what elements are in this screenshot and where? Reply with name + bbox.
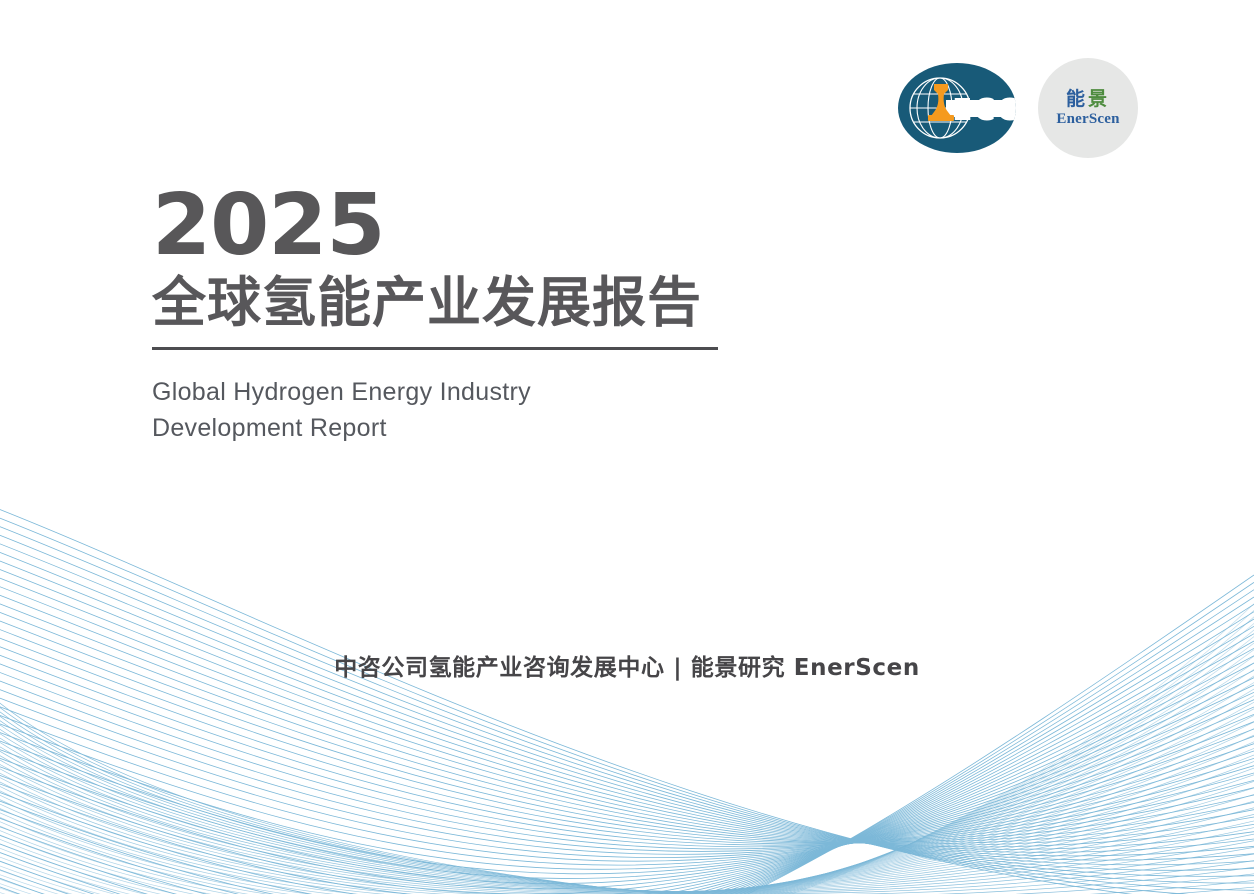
decor-curve [0, 718, 1254, 894]
decor-curve [0, 692, 1254, 883]
decor-curve [0, 654, 1254, 844]
decor-curve [0, 722, 1254, 865]
decor-curve [0, 670, 1254, 894]
decor-curve [0, 600, 1254, 894]
decor-curve [0, 653, 1254, 894]
decor-curve [0, 700, 1254, 894]
decor-curve [0, 662, 1254, 845]
decor-curve [0, 720, 1254, 894]
decor-curve [0, 753, 1254, 891]
decor-curve [0, 736, 1254, 893]
decor-curve [0, 709, 1254, 894]
enerscen-cjk-first: 能 [1066, 88, 1088, 110]
decor-curve [0, 767, 1254, 894]
decor-curve [0, 611, 1254, 845]
decor-curve [0, 753, 1254, 894]
decor-curve [0, 740, 1254, 892]
credit-line: 中咨公司氢能产业咨询发展中心 | 能景研究 EnerScen [0, 648, 1254, 682]
decor-curve [0, 678, 1254, 894]
decor-curve [0, 758, 1254, 892]
report-year: 2025 [152, 186, 718, 267]
decor-curve [0, 575, 1254, 894]
logo-row: ECC 能景 EnerScen [898, 58, 1138, 158]
decor-curve [0, 762, 1254, 892]
decor-curve [0, 585, 1254, 852]
decor-curve [0, 680, 1254, 894]
decor-curve [0, 648, 1254, 894]
decor-curve [0, 700, 1254, 894]
subtitle-line-1: Global Hydrogen Energy Industry [152, 378, 531, 406]
decor-curve [0, 697, 1254, 855]
enerscen-latin: EnerScen [1056, 112, 1119, 127]
decor-curve [0, 656, 1254, 894]
credit-text: 中咨公司氢能产业咨询发展中心 | 能景研究 EnerScen [334, 648, 920, 682]
page-subtitle-english: Global Hydrogen Energy Industry Developm… [152, 374, 622, 447]
decor-curve [0, 693, 1254, 894]
decor-curve [0, 590, 1254, 894]
decor-curve [0, 508, 1254, 894]
decor-curve [0, 727, 1254, 894]
decor-curve [0, 705, 1254, 857]
decor-curve [0, 767, 1254, 893]
decor-curve [0, 713, 1254, 894]
decor-curve [0, 542, 1254, 876]
decor-curve [0, 577, 1254, 856]
decor-curve [0, 780, 1254, 894]
decor-curve [0, 760, 1254, 894]
decor-curve [0, 731, 1254, 893]
decor-curve [0, 568, 1254, 860]
decor-curve [0, 744, 1254, 891]
decor-curve [0, 667, 1254, 894]
decor-curve [0, 713, 1254, 894]
subtitle-line-2: Development Report [152, 414, 387, 442]
decor-curve [0, 707, 1254, 874]
enerscen-cjk-second: 景 [1088, 88, 1110, 110]
decor-curve [0, 582, 1254, 894]
decor-curve [0, 776, 1254, 894]
decor-curve [0, 740, 1254, 894]
decor-curve [0, 749, 1254, 892]
decor-curve [0, 688, 1254, 851]
decor-curve [0, 714, 1254, 861]
decor-curve [0, 602, 1254, 847]
decor-curve [0, 647, 1254, 894]
enerscen-logo: 能景 EnerScen [1038, 58, 1138, 158]
decor-curve [0, 534, 1254, 883]
decor-curve [0, 727, 1254, 894]
decor-curve [0, 671, 1254, 847]
decor-curve [0, 597, 1254, 894]
decor-curve [0, 700, 1254, 879]
decor-curve [0, 660, 1254, 894]
decor-curve [0, 722, 1254, 894]
decor-curve [0, 559, 1254, 864]
decor-curve [0, 685, 1254, 889]
decor-curve [0, 747, 1254, 894]
decor-curve [0, 707, 1254, 894]
decor-curve [0, 714, 1254, 869]
decor-curve [0, 680, 1254, 849]
report-cover-page: ECC 能景 EnerScen 2025 全球氢能产业发展报告 Global H… [0, 0, 1254, 894]
decor-curve [0, 525, 1254, 890]
title-block: 2025 全球氢能产业发展报告 Global Hydrogen Energy I… [152, 186, 718, 447]
decor-curve [0, 773, 1254, 894]
decor-curve [0, 687, 1254, 894]
page-title-chinese: 全球氢能产业发展报告 [152, 273, 718, 333]
decor-curve [0, 517, 1254, 894]
enerscen-cjk: 能景 [1066, 90, 1110, 109]
ecc-logo: ECC [898, 58, 1016, 158]
decor-curve [0, 673, 1254, 894]
svg-text:ECC: ECC [952, 93, 1016, 128]
decor-curve [0, 771, 1254, 894]
decor-curve [0, 704, 1254, 894]
decor-curve [0, 733, 1254, 894]
title-divider [152, 347, 718, 350]
decor-curve [0, 594, 1254, 850]
decor-curve [0, 551, 1254, 870]
decor-curve [0, 663, 1254, 894]
